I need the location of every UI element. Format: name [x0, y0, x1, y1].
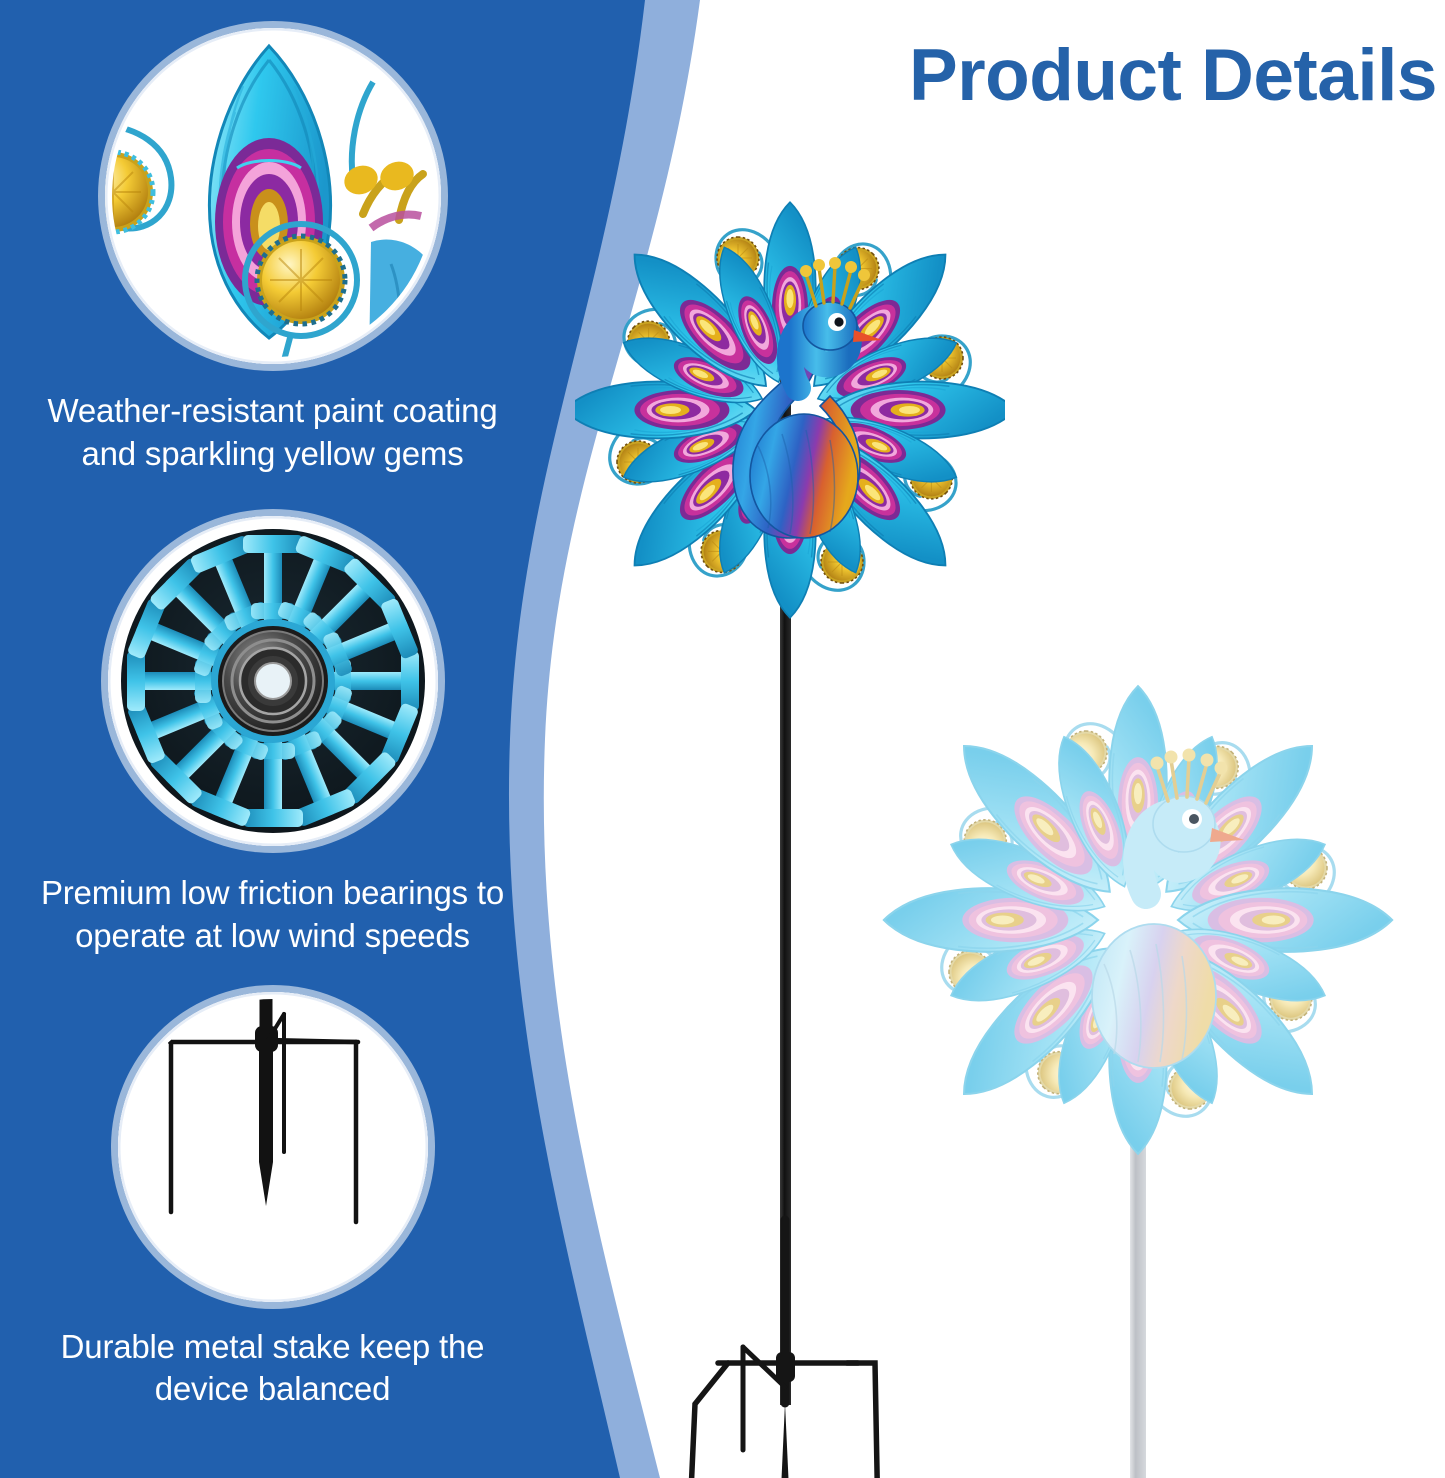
- bearing-hub-closeup-art: [108, 516, 438, 846]
- metal-stake-closeup-art: [118, 992, 428, 1302]
- spinner-ground-stake: [687, 1220, 879, 1478]
- feature-block-weather-resistant-paint: Weather-resistant paint coating and spar…: [0, 28, 545, 476]
- product-details-infographic: Product Details: [0, 0, 1445, 1478]
- feature-caption-low-friction-bearings: Premium low friction bearings to operate…: [38, 872, 508, 958]
- feather-gem-closeup-icon: [105, 28, 441, 364]
- feature-block-low-friction-bearings: Premium low friction bearings to operate…: [0, 516, 545, 958]
- feature-caption-durable-metal-stake: Durable metal stake keep the device bala…: [38, 1326, 508, 1412]
- feather-gem-closeup-art: [105, 28, 441, 364]
- bearing-hub-closeup-icon: [108, 516, 438, 846]
- feature-block-durable-metal-stake: Durable metal stake keep the device bala…: [0, 992, 545, 1412]
- page-title: Product Details: [909, 34, 1437, 117]
- metal-stake-closeup-icon: [118, 992, 428, 1302]
- feature-caption-weather-resistant-paint: Weather-resistant paint coating and spar…: [38, 390, 508, 476]
- features-sidebar: Weather-resistant paint coating and spar…: [0, 0, 545, 1478]
- product-image-primary: [575, 120, 1005, 1478]
- peacock-spinner-primary-svg: [575, 120, 1005, 1478]
